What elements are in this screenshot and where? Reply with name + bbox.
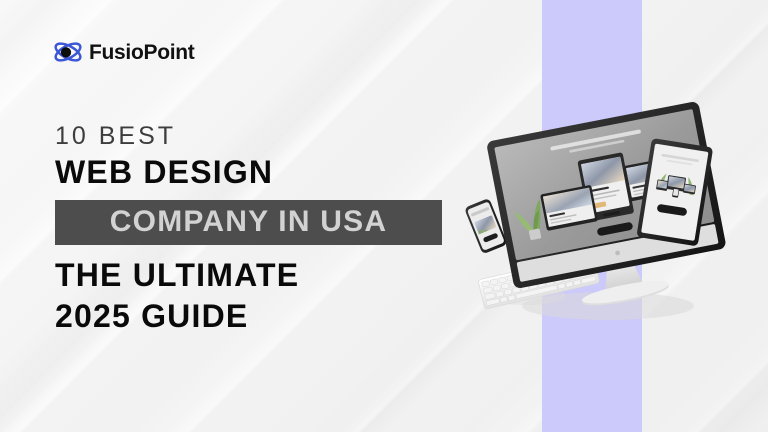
- brand-name: FusioPoint: [89, 42, 195, 63]
- promo-banner: FusioPoint 10 BEST WEB DESIGN COMPANY IN…: [0, 0, 768, 432]
- headline-highlight-text: COMPANY IN USA: [110, 207, 387, 237]
- atom-orbit-icon: [52, 36, 84, 68]
- headline-line-1: WEB DESIGN: [55, 154, 475, 192]
- headline-highlight-band: COMPANY IN USA: [55, 200, 442, 245]
- headline-block: 10 BEST WEB DESIGN COMPANY IN USA THE UL…: [55, 122, 475, 335]
- headline-line-3: 2025 GUIDE: [55, 298, 475, 336]
- headline-eyebrow: 10 BEST: [55, 122, 475, 150]
- headline-line-2: THE ULTIMATE: [55, 257, 475, 295]
- device-mockup-illustration: [430, 120, 768, 335]
- brand-logo[interactable]: FusioPoint: [52, 36, 195, 68]
